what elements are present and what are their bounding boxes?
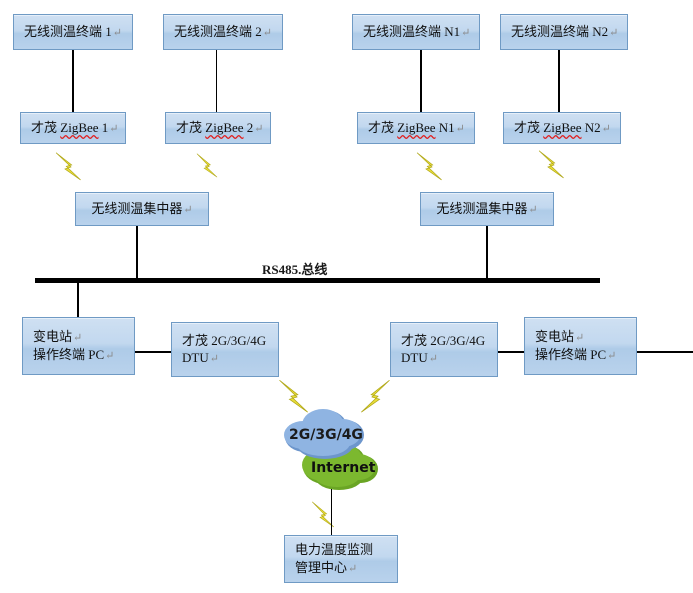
link-terminaln2-zigbeen2 xyxy=(558,50,560,112)
network-topology-diagram: 无线测温终端 1↵ 无线测温终端 2↵ 无线测温终端 N1↵ 无线测温终端 N2… xyxy=(0,0,693,593)
node-zigbee-n2-text: 才茂 ZigBee N2↵ xyxy=(504,119,620,137)
node-concentrator-1-text: 无线测温集中器↵ xyxy=(76,200,208,218)
node-station-pc-left[interactable]: 变电站↵ 操作终端 PC↵ xyxy=(22,317,135,375)
link-terminal1-zigbee1 xyxy=(72,50,74,112)
node-dtu-right-line1: 才茂 2G/3G/4G xyxy=(391,332,497,350)
node-terminal-n2[interactable]: 无线测温终端 N2↵ xyxy=(500,14,628,50)
link-bus-station1 xyxy=(77,283,79,317)
cloud-label-internet: Internet xyxy=(311,460,375,476)
node-management-center-line2: 管理中心↵ xyxy=(285,559,397,577)
node-management-center[interactable]: 电力温度监测 管理中心↵ xyxy=(284,535,398,583)
bus-label: RS485.总线 xyxy=(262,259,327,278)
node-terminal-2-text: 无线测温终端 2↵ xyxy=(164,23,282,41)
node-dtu-left-line1: 才茂 2G/3G/4G xyxy=(172,332,278,350)
link-station1-dtu1 xyxy=(135,351,171,353)
link-terminaln1-zigbeen1 xyxy=(420,50,422,112)
node-concentrator-2[interactable]: 无线测温集中器↵ xyxy=(420,192,554,226)
link-cloud-management-center xyxy=(331,489,332,535)
node-station-pc-right-line1: 变电站↵ xyxy=(525,328,636,346)
node-terminal-2[interactable]: 无线测温终端 2↵ xyxy=(163,14,283,50)
link-terminal2-zigbee2 xyxy=(216,50,217,112)
lightning-bolt-icon-zigbee1 xyxy=(52,150,86,184)
node-dtu-right[interactable]: 才茂 2G/3G/4G DTU↵ xyxy=(390,322,498,377)
cloud-label-mobile: 2G/3G/4G xyxy=(289,427,363,443)
link-dtu2-station2 xyxy=(498,351,524,353)
cloud-shapes xyxy=(275,405,395,490)
node-terminal-1[interactable]: 无线测温终端 1↵ xyxy=(13,14,133,50)
node-zigbee-n1[interactable]: 才茂 ZigBee N1↵ xyxy=(357,112,475,144)
link-concentrator1-bus xyxy=(136,226,138,280)
lightning-bolt-icon-zigbee2 xyxy=(193,152,221,180)
link-concentrator2-bus xyxy=(486,226,488,280)
network-cloud-group: 2G/3G/4G Internet xyxy=(275,405,395,490)
node-zigbee-2[interactable]: 才茂 ZigBee 2↵ xyxy=(165,112,271,144)
lightning-bolt-icon-zigbeen1 xyxy=(413,150,447,184)
node-zigbee-1[interactable]: 才茂 ZigBee 1↵ xyxy=(20,112,126,144)
node-dtu-right-line2: DTU↵ xyxy=(391,349,497,367)
node-zigbee-1-text: 才茂 ZigBee 1↵ xyxy=(21,119,125,137)
lightning-bolt-icon-cloud-center xyxy=(308,500,338,530)
node-dtu-left-line2: DTU↵ xyxy=(172,349,278,367)
lightning-bolt-icon-zigbeen2 xyxy=(535,148,569,182)
rs485-bus-line xyxy=(35,278,600,283)
node-zigbee-n1-text: 才茂 ZigBee N1↵ xyxy=(358,119,474,137)
node-station-pc-right-line2: 操作终端 PC↵ xyxy=(525,346,636,364)
node-terminal-n2-text: 无线测温终端 N2↵ xyxy=(501,23,627,41)
node-concentrator-1[interactable]: 无线测温集中器↵ xyxy=(75,192,209,226)
node-station-pc-left-line1: 变电站↵ xyxy=(23,328,134,346)
node-concentrator-2-text: 无线测温集中器↵ xyxy=(421,200,553,218)
node-dtu-left[interactable]: 才茂 2G/3G/4G DTU↵ xyxy=(171,322,279,377)
node-terminal-1-text: 无线测温终端 1↵ xyxy=(14,23,132,41)
link-station2-external xyxy=(637,351,693,353)
node-terminal-n1-text: 无线测温终端 N1↵ xyxy=(353,23,479,41)
node-station-pc-right[interactable]: 变电站↵ 操作终端 PC↵ xyxy=(524,317,637,375)
node-zigbee-n2[interactable]: 才茂 ZigBee N2↵ xyxy=(503,112,621,144)
node-zigbee-2-text: 才茂 ZigBee 2↵ xyxy=(166,119,270,137)
node-station-pc-left-line2: 操作终端 PC↵ xyxy=(23,346,134,364)
node-terminal-n1[interactable]: 无线测温终端 N1↵ xyxy=(352,14,480,50)
node-management-center-line1: 电力温度监测 xyxy=(285,541,397,559)
